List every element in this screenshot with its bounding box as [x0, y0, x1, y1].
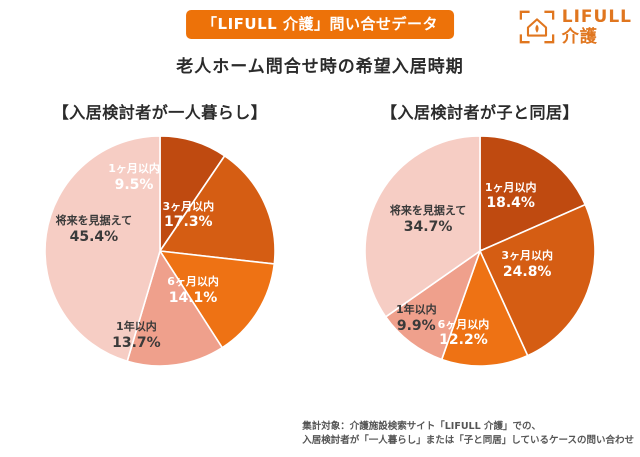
logo-text-jp: 介護: [562, 29, 632, 46]
chart-title-left: 【入居検討者が一人暮らし】: [0, 99, 320, 123]
chart-single-household: 【入居検討者が一人暮らし】 1ヶ月以内 9.5% 3ヶ月以内 17.3% 6ヶ月…: [0, 99, 320, 369]
logo-text-en: LIFULL: [562, 9, 632, 26]
title-badge: 「LIFULL 介護」問い合せデータ: [186, 10, 454, 39]
pie-chart-left: 1ヶ月以内 9.5% 3ヶ月以内 17.3% 6ヶ月以内 14.1% 1年以内 …: [42, 133, 278, 369]
logo-text: LIFULL 介護: [562, 9, 632, 46]
pie-chart-right: 1ヶ月以内 18.4% 3ヶ月以内 24.8% 6ヶ月以内 12.2% 1年以内…: [362, 133, 598, 369]
page-header: 「LIFULL 介護」問い合せデータ LIFULL 介護: [0, 0, 640, 56]
chart-living-with-child: 【入居検討者が子と同居】 1ヶ月以内 18.4% 3ヶ月以内 24.8% 6ヶ月…: [320, 99, 640, 369]
house-bracket-icon: [518, 8, 556, 46]
lifull-logo: LIFULL 介護: [518, 8, 632, 46]
footnote-line-1: 集計対象：介護施設検索サイト「LIFULL 介護」での、: [302, 420, 634, 435]
footnote: 集計対象：介護施設検索サイト「LIFULL 介護」での、 入居検討者が「一人暮ら…: [302, 420, 634, 449]
footnote-line-2: 入居検討者が「一人暮らし」または「子と同居」しているケースの問い合わせ: [302, 434, 634, 449]
charts-container: 【入居検討者が一人暮らし】 1ヶ月以内 9.5% 3ヶ月以内 17.3% 6ヶ月…: [0, 99, 640, 369]
chart-title-right: 【入居検討者が子と同居】: [320, 99, 640, 123]
